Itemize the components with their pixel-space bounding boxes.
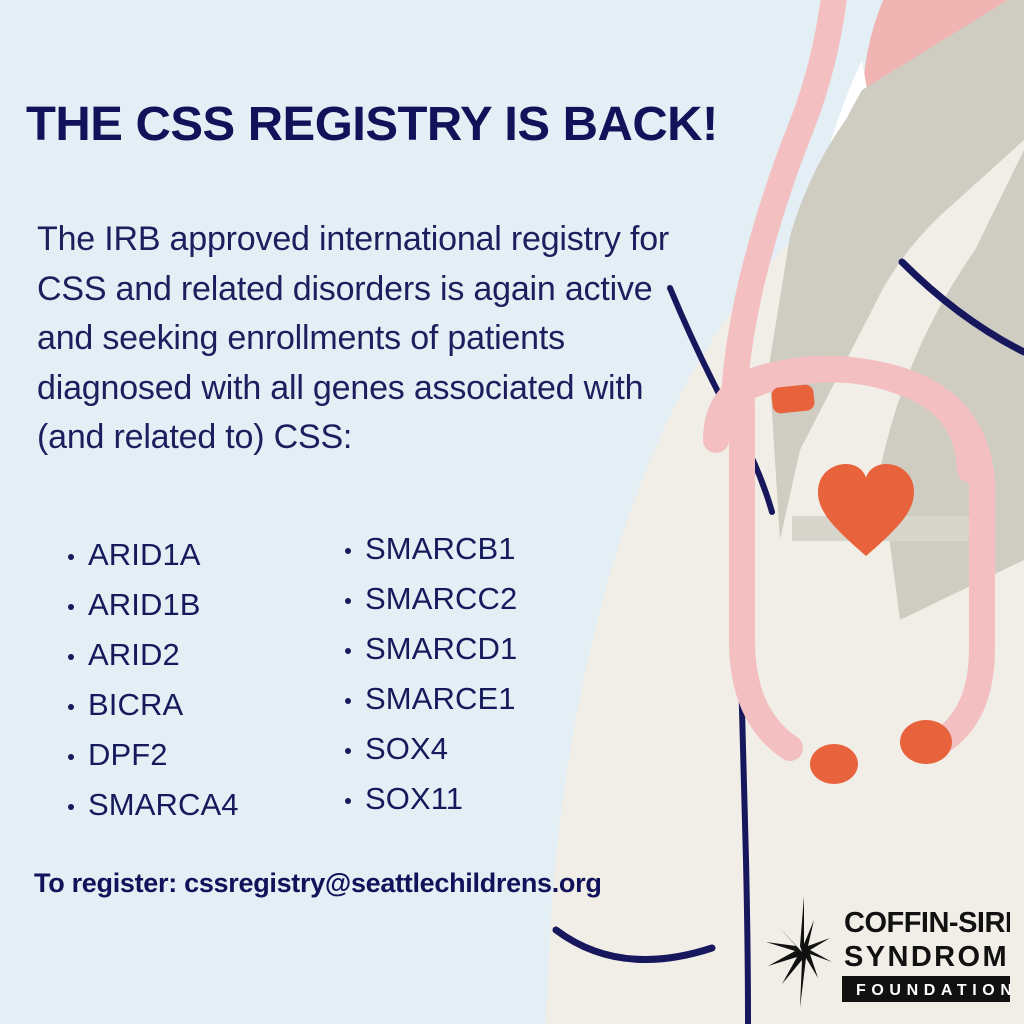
registration-contact[interactable]: To register: cssregistry@seattlechildren… [34, 868, 602, 899]
gene-list-column-right: SMARCB1 SMARCC2 SMARCD1 SMARCE1 SOX4 SOX… [337, 524, 517, 824]
page-title: THE CSS REGISTRY IS BACK! [26, 97, 718, 152]
poster-content: THE CSS REGISTRY IS BACK! The IRB approv… [0, 0, 1024, 1024]
list-item: ARID1B [60, 580, 239, 630]
body-paragraph: The IRB approved international registry … [37, 215, 687, 463]
list-item: SOX4 [337, 724, 517, 774]
logo-line-3: FOUNDATION [856, 982, 1010, 999]
list-item: SMARCB1 [337, 524, 517, 574]
list-item: ARID1A [60, 530, 239, 580]
list-item: SMARCA4 [60, 780, 239, 830]
list-item: SMARCC2 [337, 574, 517, 624]
list-item: BICRA [60, 680, 239, 730]
list-item: SMARCD1 [337, 624, 517, 674]
list-item: SOX11 [337, 774, 517, 824]
list-item: SMARCE1 [337, 674, 517, 724]
list-item: ARID2 [60, 630, 239, 680]
list-item: DPF2 [60, 730, 239, 780]
starburst-icon [766, 896, 832, 1008]
logo-line-2: SYNDROME [844, 941, 1010, 973]
foundation-logo: COFFIN-SIRIS SYNDROME FOUNDATION [766, 896, 1010, 1008]
poster-canvas: THE CSS REGISTRY IS BACK! The IRB approv… [0, 0, 1024, 1024]
gene-list-column-left: ARID1A ARID1B ARID2 BICRA DPF2 SMARCA4 [60, 530, 239, 830]
logo-line-1: COFFIN-SIRIS [844, 907, 1010, 939]
